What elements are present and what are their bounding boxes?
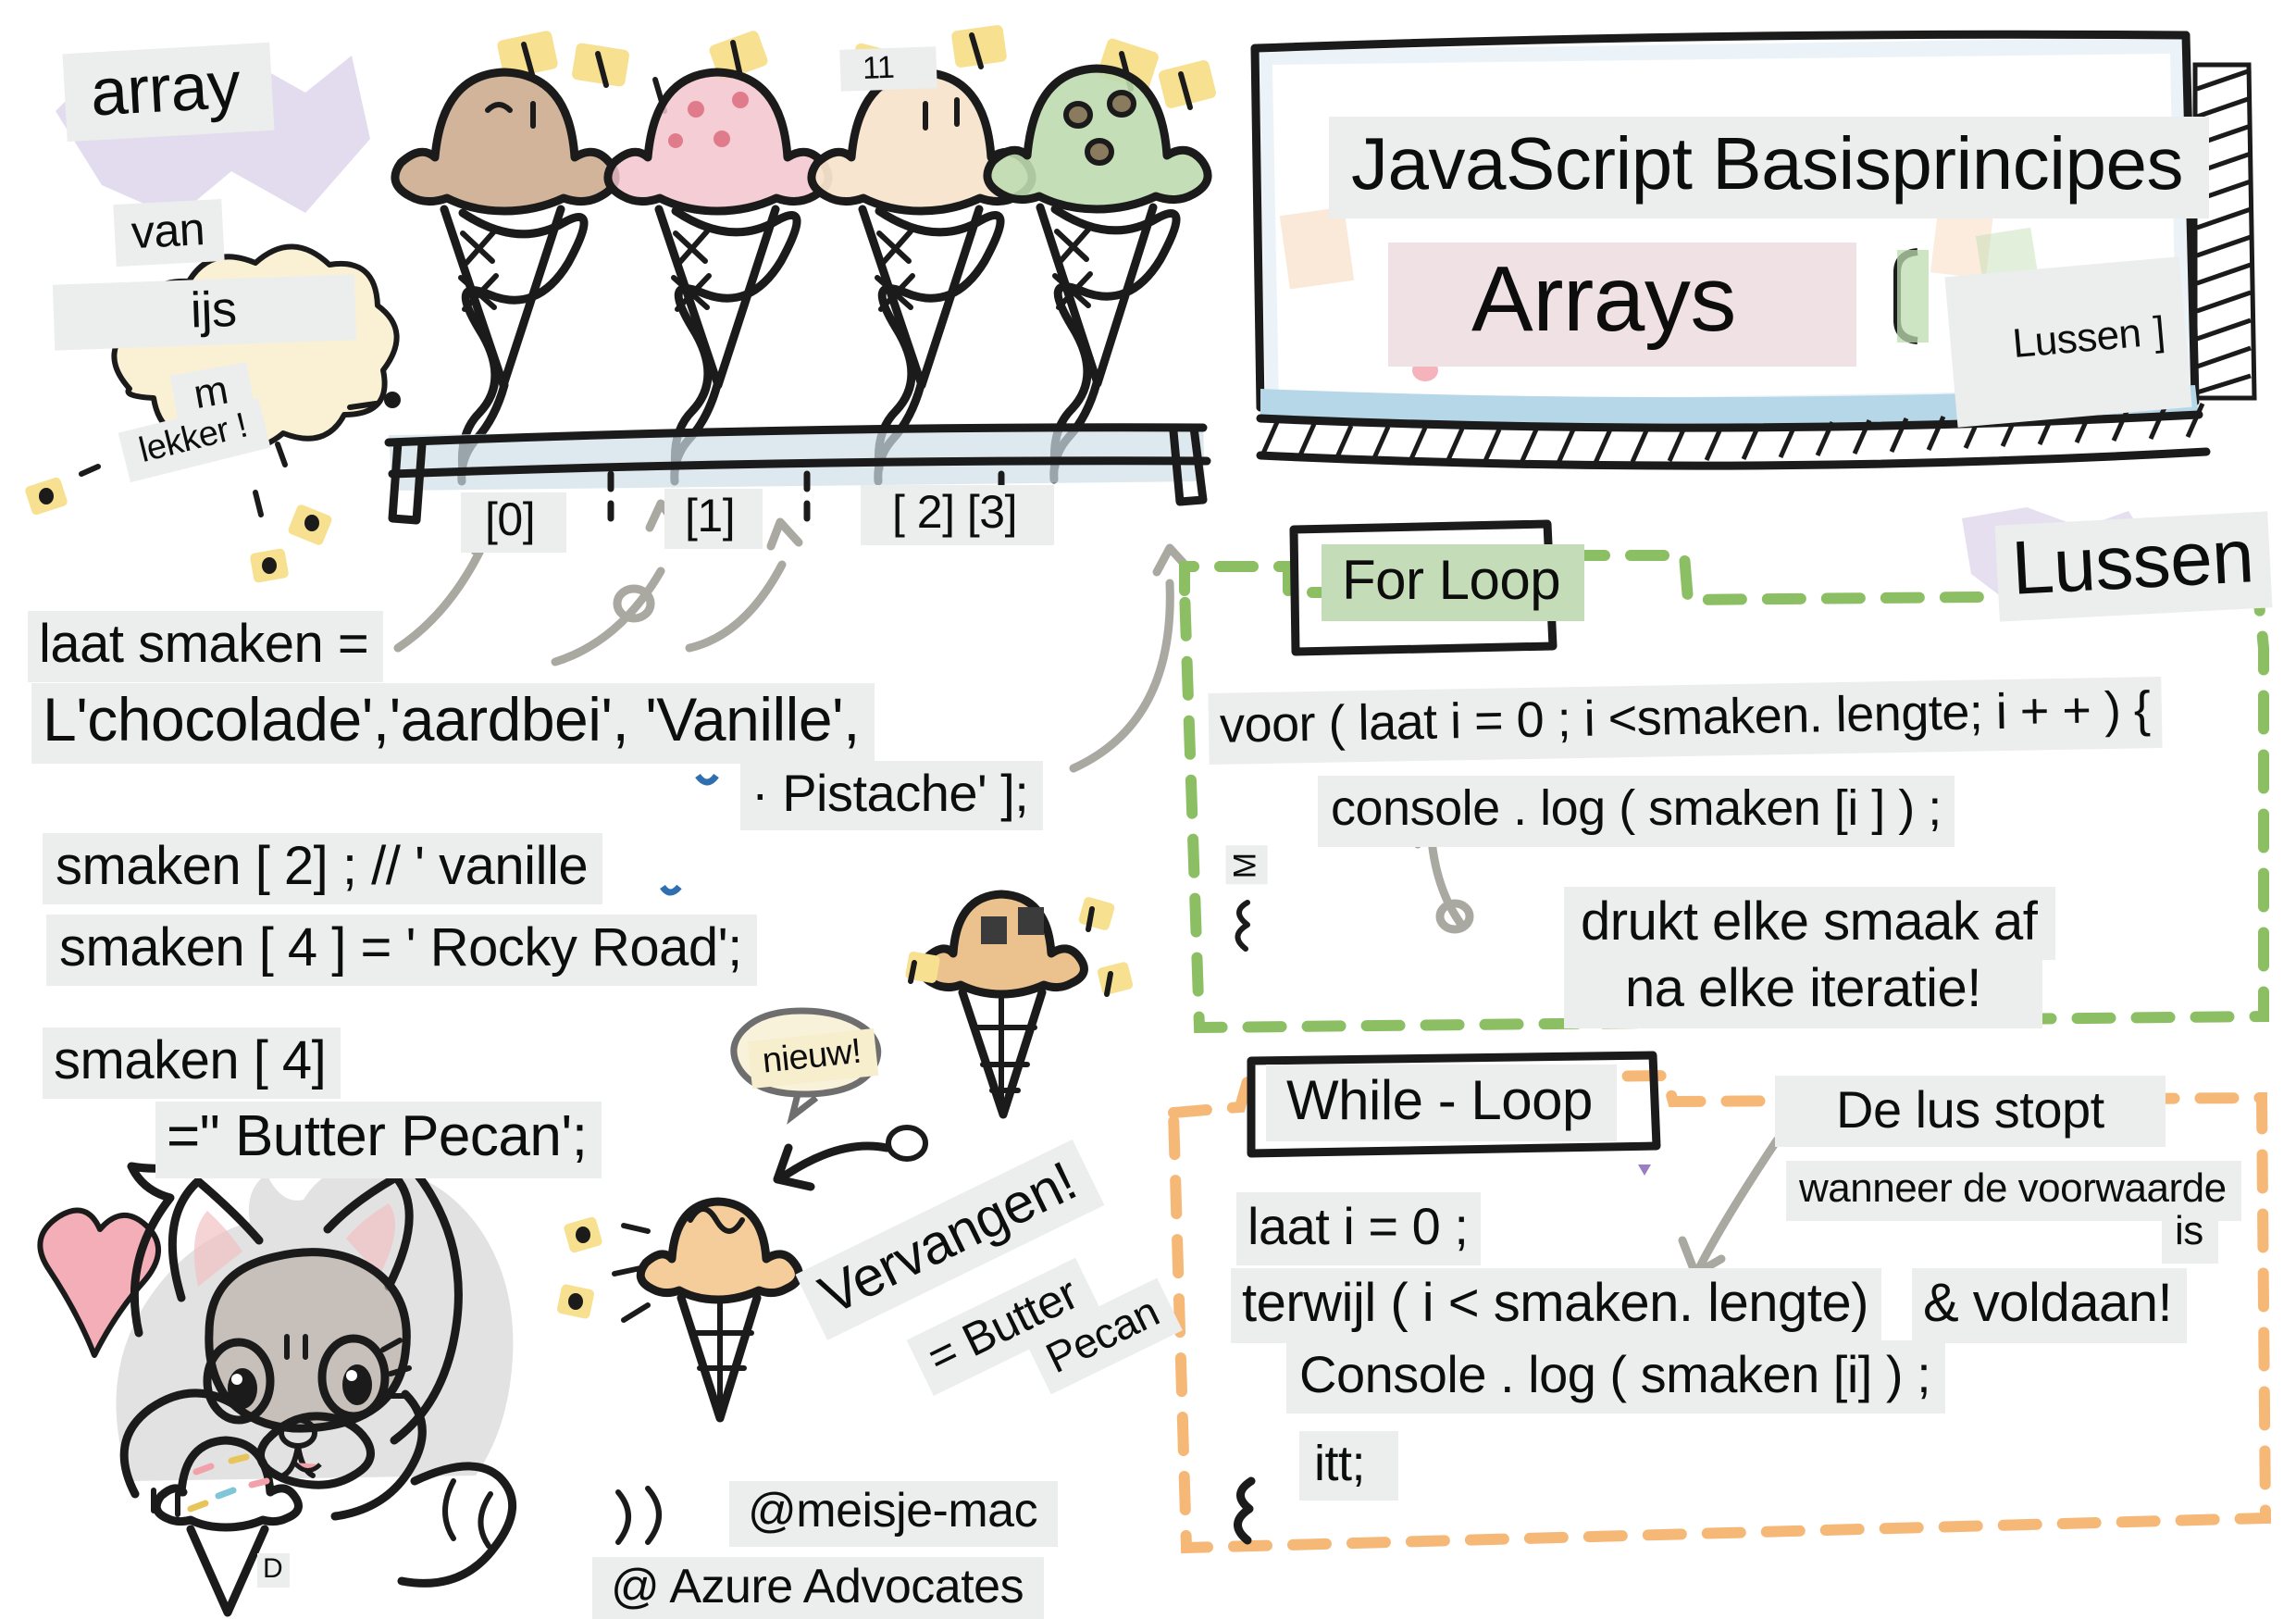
bracket-label: Lussen] <box>1944 256 2191 427</box>
while-note-arrow <box>1682 1140 1777 1274</box>
array-label: array <box>63 43 275 143</box>
credit-handle: @meisje-mac <box>729 1481 1058 1547</box>
scoop-count-note: 11 <box>839 46 937 91</box>
raccoon-mascot <box>116 1115 513 1613</box>
lussen-section-title: Lussen <box>1994 511 2272 621</box>
van-label: van <box>113 199 224 267</box>
ice-cream-cone-strawberry <box>608 72 828 481</box>
while-loop-badge: While - Loop <box>1266 1065 1617 1141</box>
raccoon-mark-label: D <box>257 1553 290 1588</box>
while-loop-line-1: laat i = 0 ; <box>1236 1192 1481 1265</box>
for-loop-note-line-2: na elke iteratie! <box>1564 953 2042 1028</box>
board-heading: JavaScript Basisprincipes <box>1329 117 2209 218</box>
index-label-2-3: [ 2] [3] <box>861 485 1054 545</box>
while-note-line-1: De lus stopt <box>1775 1076 2166 1147</box>
heart-icon <box>40 1211 158 1355</box>
for-loop-line-2: console . log ( smaken [i ] ) ; <box>1318 776 1955 847</box>
bracket-label-text: Lussen <box>2011 310 2143 367</box>
credit-org: @ Azure Advocates <box>592 1557 1044 1619</box>
paren-doodle-label: )) <box>618 1464 650 1513</box>
while-loop-line-4: itt; <box>1299 1431 1398 1501</box>
code-line-butter-pecan: =" Butter Pecan'; <box>155 1102 602 1178</box>
for-loop-badge: For Loop <box>1322 544 1584 621</box>
code-line-access-2: smaken [ 2] ; // ' vanille <box>43 833 602 904</box>
code-line-assign-4: smaken [ 4 ] = ' Rocky Road'; <box>46 915 757 986</box>
index-label-1: [1] <box>664 489 763 549</box>
ice-cream-cone-replaced <box>556 1202 799 1418</box>
code-line-array-close: · Pistache' ]; <box>740 761 1043 830</box>
for-loop-line-1: voor ( laat i = 0 ; i <smaken. lengte; i… <box>1208 677 2162 765</box>
bracket-close-text: ] <box>2152 308 2166 355</box>
for-loop-brace-marker: M <box>1226 845 1268 884</box>
ice-cream-cone-vanilla <box>812 72 1032 481</box>
while-note-line-4: & voldaan! <box>1912 1268 2187 1343</box>
for-loop-note-line-1: drukt elke smaak af <box>1564 887 2055 960</box>
board-subject: Arrays <box>1388 243 1856 367</box>
index-label-0: [0] <box>461 492 566 553</box>
while-closing-brace-label: } <box>1236 1477 1253 1530</box>
ice-cream-cone-butter-pecan <box>905 894 1134 1115</box>
bracket-open-label: [ <box>1897 252 1918 333</box>
while-loop-line-2: terwijl ( i < smaken. lengte) <box>1231 1268 1881 1343</box>
while-loop-line-3: Console . log ( smaken [i] ) ; <box>1286 1340 1945 1414</box>
sketchnote-poster: .ink { fill:none; stroke:#1b1b1b; stroke… <box>0 0 2296 1619</box>
code-line-array-values: L'chocolade','aardbei', 'Vanille', <box>31 683 875 764</box>
code-line-declaration: laat smaken = <box>28 611 383 682</box>
ijs-label: ijs <box>53 274 356 350</box>
code-line-smaken-4: smaken [ 4] <box>43 1027 341 1099</box>
ice-cream-cone-pistachio <box>987 68 1208 479</box>
while-note-line-3: is <box>2162 1203 2218 1264</box>
ice-cream-cone-chocolate <box>395 72 615 481</box>
vervangen-arrow <box>777 1127 925 1187</box>
nieuw-label: nieuw! <box>748 1028 878 1089</box>
for-loop-brace <box>1237 903 1247 949</box>
